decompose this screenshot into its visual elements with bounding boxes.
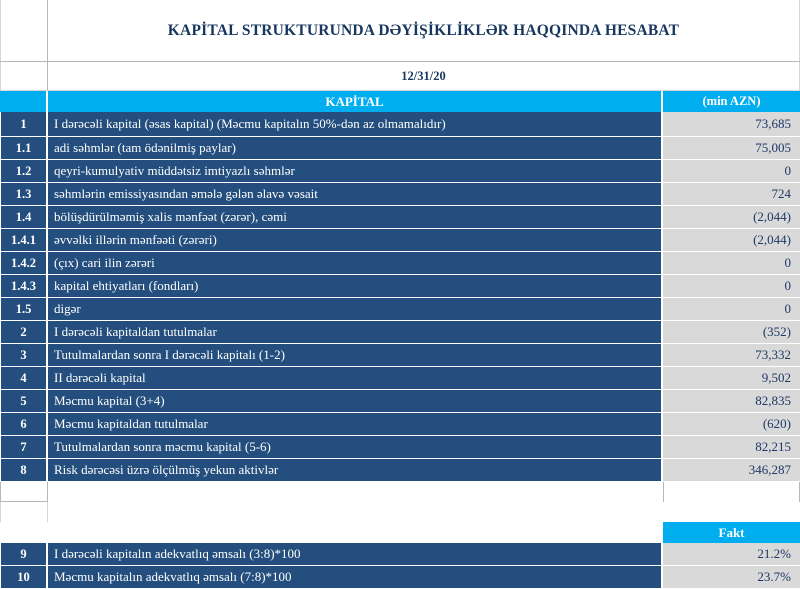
table-row: 1.5digər0 — [0, 298, 800, 321]
row-value-cell: 21.2% — [663, 543, 800, 565]
capital-structure-report: KAPİTAL STRUKTURUNDA DƏYİŞİKLİKLƏR HAQQI… — [0, 0, 800, 548]
spacer-value-cell — [663, 482, 800, 502]
table-row: 1.3səhmlərin emissiyasından əmələ gələn … — [0, 183, 800, 206]
row-label-cell: Məcmu kapitalın adekvatlıq əmsalı (7:8)*… — [48, 566, 663, 588]
row-number-cell: 1.3 — [0, 183, 48, 205]
row-label-cell: I dərəcəli kapitalın adekvatlıq əmsalı (… — [48, 543, 663, 565]
table-row: 1I dərəcəli kapital (əsas kapital) (Məcm… — [0, 112, 800, 137]
column-header-label: KAPİTAL — [48, 91, 663, 112]
row-number-cell: 1 — [0, 112, 48, 136]
title-text-cell: KAPİTAL STRUKTURUNDA DƏYİŞİKLİKLƏR HAQQI… — [48, 0, 800, 61]
row-number-cell: 3 — [0, 344, 48, 366]
spacer-number-cell-2 — [0, 502, 48, 522]
row-number-cell: 6 — [0, 413, 48, 435]
table-row: 1.1adi səhmlər (tam ödənilmiş paylar)75,… — [0, 137, 800, 160]
fakt-middle-cell — [48, 522, 663, 543]
row-label-cell: II dərəcəli kapital — [48, 367, 663, 389]
row-label-cell: (çıx) cari ilin zərəri — [48, 252, 663, 274]
row-label-cell: Məcmu kapitaldan tutulmalar — [48, 413, 663, 435]
table-row: 10Məcmu kapitalın adekvatlıq əmsalı (7:8… — [0, 566, 800, 589]
row-value-cell: 0 — [663, 298, 800, 320]
row-label-cell: Məcmu kapital (3+4) — [48, 390, 663, 412]
row-number-cell: 5 — [0, 390, 48, 412]
table-row: 7Tutulmalardan sonra məcmu kapital (5-6)… — [0, 436, 800, 459]
table-row: 3Tutulmalardan sonra I dərəcəli kapitalı… — [0, 344, 800, 367]
row-number-cell: 1.1 — [0, 137, 48, 159]
spacer-row-2 — [0, 502, 800, 522]
row-value-cell: (352) — [663, 321, 800, 343]
spacer-middle-cell-2 — [48, 502, 663, 522]
row-number-cell: 4 — [0, 367, 48, 389]
page-title: KAPİTAL STRUKTURUNDA DƏYİŞİKLİKLƏR HAQQI… — [168, 22, 679, 40]
spacer-middle-cell — [48, 482, 663, 502]
table-row: 9I dərəcəli kapitalın adekvatlıq əmsalı … — [0, 543, 800, 566]
row-value-cell: 724 — [663, 183, 800, 205]
row-label-cell: adi səhmlər (tam ödənilmiş paylar) — [48, 137, 663, 159]
table-row: 1.4bölüşdürülməmiş xalis mənfəət (zərər)… — [0, 206, 800, 229]
row-value-cell: 9,502 — [663, 367, 800, 389]
fakt-header-label: Fakt — [663, 522, 800, 543]
row-label-cell: Tutulmalardan sonra məcmu kapital (5-6) — [48, 436, 663, 458]
table-row: 1.4.1əvvəlki illərin mənfəəti (zərəri)(2… — [0, 229, 800, 252]
row-number-cell: 1.2 — [0, 160, 48, 182]
row-number-cell: 2 — [0, 321, 48, 343]
fakt-header-row: Fakt — [0, 522, 800, 543]
main-rows-container: 1I dərəcəli kapital (əsas kapital) (Məcm… — [0, 112, 800, 482]
date-number-cell — [0, 62, 48, 90]
row-value-cell: 82,215 — [663, 436, 800, 458]
row-label-cell: Tutulmalardan sonra I dərəcəli kapitalı … — [48, 344, 663, 366]
row-value-cell: 346,287 — [663, 459, 800, 481]
table-row: 1.4.2(çıx) cari ilin zərəri0 — [0, 252, 800, 275]
table-row: 1.2qeyri-kumulyativ müddətsiz imtiyazlı … — [0, 160, 800, 183]
row-value-cell: 23.7% — [663, 566, 800, 588]
row-value-cell: 82,835 — [663, 390, 800, 412]
row-label-cell: I dərəcəli kapital (əsas kapital) (Məcmu… — [48, 112, 663, 136]
row-label-cell: I dərəcəli kapitaldan tutulmalar — [48, 321, 663, 343]
row-value-cell: (2,044) — [663, 229, 800, 251]
row-label-cell: digər — [48, 298, 663, 320]
table-row: 2I dərəcəli kapitaldan tutulmalar(352) — [0, 321, 800, 344]
row-value-cell: 0 — [663, 160, 800, 182]
table-row: 1.4.3kapital ehtiyatları (fondları)0 — [0, 275, 800, 298]
row-number-cell: 1.4.2 — [0, 252, 48, 274]
row-label-cell: Risk dərəcəsi üzrə ölçülmüş yekun aktivl… — [48, 459, 663, 481]
date-text-cell: 12/31/20 — [48, 62, 800, 90]
row-label-cell: səhmlərin emissiyasından əmələ gələn əla… — [48, 183, 663, 205]
row-label-cell: qeyri-kumulyativ müddətsiz imtiyazlı səh… — [48, 160, 663, 182]
row-value-cell: (2,044) — [663, 206, 800, 228]
spacer-value-cell-2 — [663, 502, 800, 522]
row-number-cell: 7 — [0, 436, 48, 458]
row-number-cell: 8 — [0, 459, 48, 481]
table-row: 8Risk dərəcəsi üzrə ölçülmüş yekun aktiv… — [0, 459, 800, 482]
row-value-cell: (620) — [663, 413, 800, 435]
ratio-rows-container: 9I dərəcəli kapitalın adekvatlıq əmsalı … — [0, 543, 800, 589]
row-value-cell: 0 — [663, 252, 800, 274]
spacer-number-cell — [0, 482, 48, 502]
row-number-cell: 1.4.3 — [0, 275, 48, 297]
table-row: 6Məcmu kapitaldan tutulmalar(620) — [0, 413, 800, 436]
column-header-unit: (min AZN) — [663, 91, 800, 112]
title-row: KAPİTAL STRUKTURUNDA DƏYİŞİKLİKLƏR HAQQI… — [0, 0, 800, 62]
row-value-cell: 75,005 — [663, 137, 800, 159]
report-date: 12/31/20 — [401, 69, 445, 84]
table-row: 5Məcmu kapital (3+4)82,835 — [0, 390, 800, 413]
row-label-cell: əvvəlki illərin mənfəəti (zərəri) — [48, 229, 663, 251]
date-row: 12/31/20 — [0, 62, 800, 91]
row-number-cell: 1.5 — [0, 298, 48, 320]
row-value-cell: 0 — [663, 275, 800, 297]
column-header-row: KAPİTAL (min AZN) — [0, 91, 800, 112]
column-header-number — [0, 91, 48, 112]
fakt-number-cell — [0, 522, 48, 543]
row-number-cell: 9 — [0, 543, 48, 565]
row-label-cell: bölüşdürülməmiş xalis mənfəət (zərər), c… — [48, 206, 663, 228]
title-number-cell — [0, 0, 48, 61]
row-number-cell: 1.4.1 — [0, 229, 48, 251]
row-label-cell: kapital ehtiyatları (fondları) — [48, 275, 663, 297]
row-number-cell: 1.4 — [0, 206, 48, 228]
row-value-cell: 73,332 — [663, 344, 800, 366]
row-value-cell: 73,685 — [663, 112, 800, 136]
spacer-row-1 — [0, 482, 800, 502]
row-number-cell: 10 — [0, 566, 48, 588]
table-row: 4II dərəcəli kapital9,502 — [0, 367, 800, 390]
